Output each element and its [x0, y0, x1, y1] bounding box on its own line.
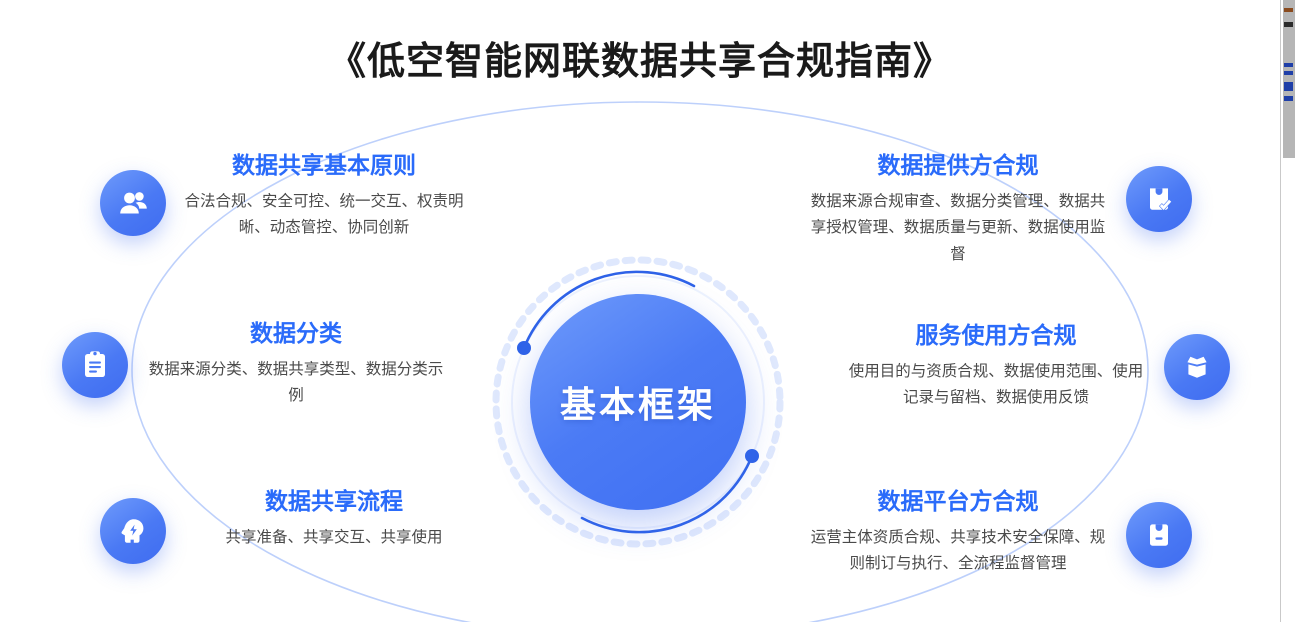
- head-lightning-icon-circle[interactable]: [100, 498, 166, 564]
- node-heading: 数据共享基本原则: [184, 152, 464, 180]
- node-text-block: 数据平台方合规 运营主体资质合规、共享技术安全保障、规则制订与执行、全流程监督管…: [808, 488, 1108, 578]
- node-body: 运营主体资质合规、共享技术安全保障、规则制订与执行、全流程监督管理: [808, 525, 1108, 578]
- scrollbar-marker: [1284, 82, 1293, 91]
- clipboard-icon-circle[interactable]: [62, 332, 128, 398]
- hub-core-circle: 基本框架: [530, 294, 746, 510]
- users-icon: [117, 187, 149, 219]
- node-body: 数据来源合规审查、数据分类管理、数据共享授权管理、数据质量与更新、数据使用监督: [808, 189, 1108, 269]
- page-title: 《低空智能网联数据共享合规指南》: [0, 30, 1280, 85]
- scrollbar-marker: [1284, 96, 1293, 101]
- document-form-icon-circle[interactable]: [1126, 502, 1192, 568]
- scrollbar-marker: [1284, 22, 1293, 27]
- hub-core-label: 基本框架: [560, 376, 716, 428]
- center-hub: 基本框架: [488, 252, 788, 552]
- background-window-sliver: [1280, 0, 1296, 622]
- clipboard-icon: [79, 349, 111, 381]
- node-text-block: 数据共享基本原则 合法合规、安全可控、统一交互、权责明晰、动态管控、协同创新: [184, 152, 464, 242]
- node-heading: 数据平台方合规: [808, 488, 1108, 516]
- node-body: 使用目的与资质合规、数据使用范围、使用记录与留档、数据使用反馈: [846, 359, 1146, 412]
- open-box-icon-circle[interactable]: [1164, 334, 1230, 400]
- infographic-canvas: 《低空智能网联数据共享合规指南》 基本框架 数据共享基本原则 合法合规、安全: [0, 0, 1296, 622]
- node-body: 共享准备、共享交互、共享使用: [184, 525, 484, 552]
- scrollbar-marker: [1284, 63, 1293, 67]
- node-text-block: 数据共享流程 共享准备、共享交互、共享使用: [184, 488, 484, 551]
- node-text-block: 数据提供方合规 数据来源合规审查、数据分类管理、数据共享授权管理、数据质量与更新…: [808, 152, 1108, 269]
- node-heading: 数据分类: [146, 320, 446, 348]
- head-lightning-icon: [117, 515, 149, 547]
- node-heading: 数据共享流程: [184, 488, 484, 516]
- open-box-icon: [1181, 351, 1213, 383]
- node-body: 数据来源分类、数据共享类型、数据分类示例: [146, 357, 446, 410]
- node-text-block: 服务使用方合规 使用目的与资质合规、数据使用范围、使用记录与留档、数据使用反馈: [846, 322, 1146, 412]
- node-heading: 数据提供方合规: [808, 152, 1108, 180]
- node-text-block: 数据分类 数据来源分类、数据共享类型、数据分类示例: [146, 320, 446, 410]
- document-check-icon: [1143, 183, 1175, 215]
- users-icon-circle[interactable]: [100, 170, 166, 236]
- node-body: 合法合规、安全可控、统一交互、权责明晰、动态管控、协同创新: [184, 189, 464, 242]
- scrollbar-marker: [1284, 8, 1293, 12]
- document-form-icon: [1143, 519, 1175, 551]
- node-heading: 服务使用方合规: [846, 322, 1146, 350]
- scrollbar-marker: [1284, 71, 1293, 75]
- document-check-icon-circle[interactable]: [1126, 166, 1192, 232]
